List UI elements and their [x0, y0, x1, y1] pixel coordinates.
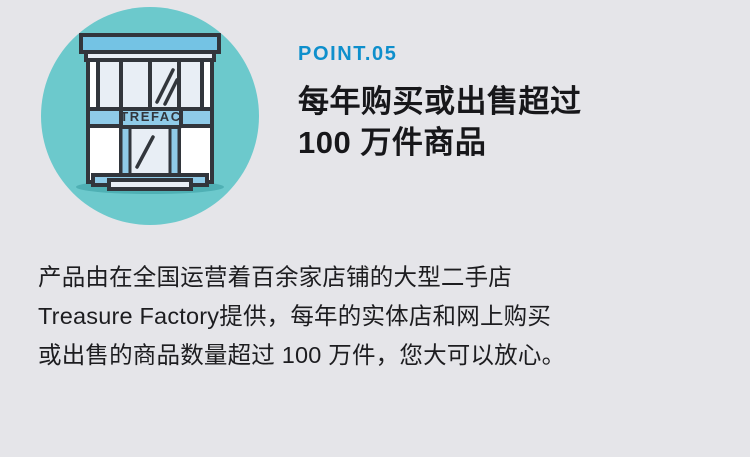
storefront-icon: TREFAC	[41, 7, 259, 225]
storefront-badge: TREFAC	[41, 7, 259, 225]
point-eyebrow: POINT.05	[298, 44, 728, 64]
body-paragraph: 产品由在全国运营着百余家店铺的大型二手店 Treasure Factory提供，…	[38, 258, 710, 375]
heading-group: POINT.05 每年购买或出售超过 100 万件商品	[298, 44, 728, 164]
hero-section: TREFAC POINT.05 每年购买或出售超过 100 万件商品	[0, 0, 750, 240]
page-title: 每年购买或出售超过 100 万件商品	[298, 82, 728, 164]
shop-sign-text: TREFAC	[120, 109, 182, 124]
